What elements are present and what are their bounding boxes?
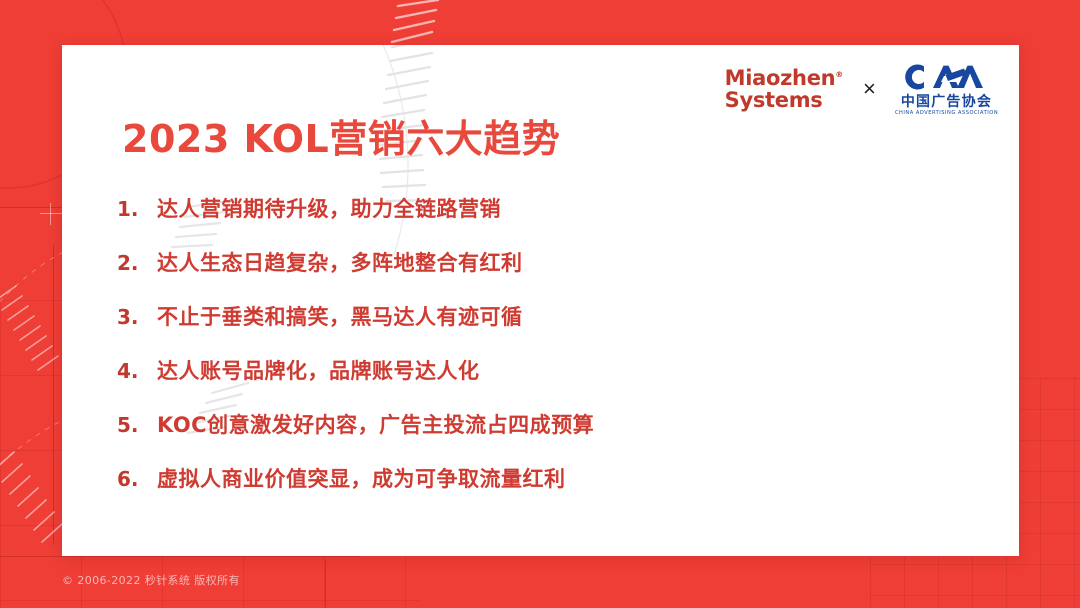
- list-item-number: 5.: [117, 413, 157, 437]
- list-item-number: 6.: [117, 467, 157, 491]
- list-item-number: 4.: [117, 359, 157, 383]
- list-item: 1. 达人营销期待升级，助力全链路营销: [117, 193, 977, 247]
- background-rule-horizontal-lower: [0, 556, 360, 557]
- content-card: Miaozhen® Systems × 中国广告协会 CHINA ADVE: [62, 45, 1019, 556]
- list-item: 5. KOC创意激发好内容，广告主投流占四成预算: [117, 409, 977, 463]
- list-item: 3. 不止于垂类和搞笑，黑马达人有迹可循: [117, 301, 977, 355]
- copyright-footer: © 2006-2022 秒针系统 版权所有: [62, 572, 240, 588]
- list-item-number: 1.: [117, 197, 157, 221]
- list-item-number: 3.: [117, 305, 157, 329]
- list-item: 6. 虚拟人商业价值突显，成为可争取流量红利: [117, 463, 977, 517]
- miaozhen-logo-line1: Miaozhen®: [725, 68, 843, 89]
- list-item-label: 不止于垂类和搞笑，黑马达人有迹可循: [157, 301, 523, 331]
- list-item: 2. 达人生态日趋复杂，多阵地整合有红利: [117, 247, 977, 301]
- list-item-label: 达人账号品牌化，品牌账号达人化: [157, 355, 480, 385]
- list-item: 4. 达人账号品牌化，品牌账号达人化: [117, 355, 977, 409]
- list-item-label: 虚拟人商业价值突显，成为可争取流量红利: [157, 463, 566, 493]
- miaozhen-logo-line2: Systems: [725, 90, 843, 111]
- caa-wordmark-icon: [900, 62, 992, 92]
- registered-trademark-icon: ®: [835, 70, 843, 79]
- miaozhen-systems-logo: Miaozhen® Systems: [725, 68, 843, 111]
- caa-chinese-name: 中国广告协会: [901, 95, 992, 109]
- list-item-label: 达人营销期待升级，助力全链路营销: [157, 193, 501, 223]
- page-title: 2023 KOL营销六大趋势: [122, 108, 560, 163]
- caa-english-name: CHINA ADVERTISING ASSOCIATION: [895, 111, 998, 116]
- list-item-label: KOC创意激发好内容，广告主投流占四成预算: [157, 409, 594, 439]
- logo-separator-x: ×: [861, 76, 878, 102]
- logo-lockup: Miaozhen® Systems × 中国广告协会 CHINA ADVE: [725, 62, 997, 116]
- crosshair-icon: [40, 203, 62, 225]
- list-item-label: 达人生态日趋复杂，多阵地整合有红利: [157, 247, 523, 277]
- caa-logo: 中国广告协会 CHINA ADVERTISING ASSOCIATION: [896, 62, 997, 116]
- trend-list: 1. 达人营销期待升级，助力全链路营销 2. 达人生态日趋复杂，多阵地整合有红利…: [117, 193, 977, 517]
- list-item-number: 2.: [117, 251, 157, 275]
- slide-root: Miaozhen® Systems × 中国广告协会 CHINA ADVE: [0, 0, 1080, 608]
- background-rule-vertical: [53, 245, 54, 545]
- background-rule-vertical-lower: [325, 560, 326, 608]
